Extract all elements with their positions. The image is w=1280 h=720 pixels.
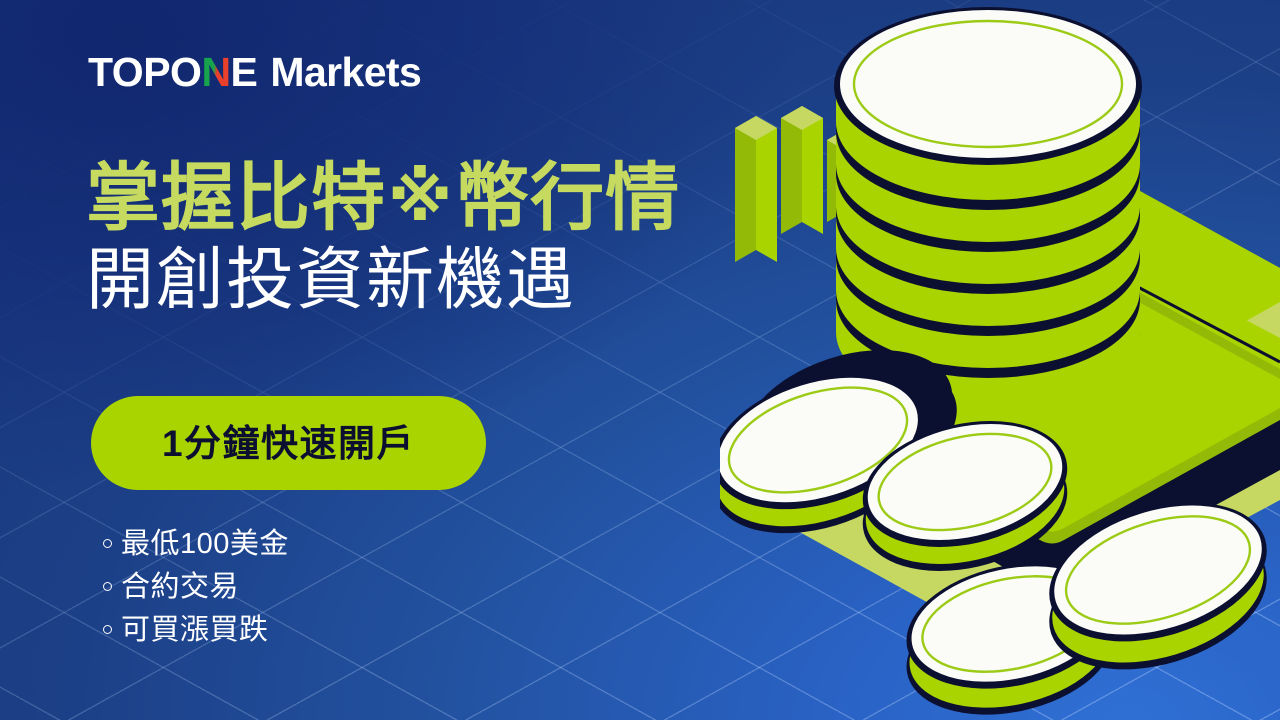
logo-text-e: E xyxy=(231,52,258,93)
reference-mark-icon: ※ xyxy=(386,163,455,232)
feature-label: 合約交易 xyxy=(121,573,239,602)
bullet-circle-icon xyxy=(103,582,112,591)
feature-label: 最低100美金 xyxy=(121,530,289,559)
feature-list: 最低100美金 合約交易 可買漲買跌 xyxy=(103,530,289,659)
bullet-circle-icon xyxy=(103,539,112,548)
list-item: 可買漲買跌 xyxy=(103,616,289,645)
headline-block: 掌握比特※幣行情 開創投資新機遇 xyxy=(86,160,806,316)
list-item: 最低100美金 xyxy=(103,530,289,559)
logo-text-markets: Markets xyxy=(270,52,421,93)
logo-text-n: N xyxy=(201,52,230,93)
list-item: 合約交易 xyxy=(103,573,289,602)
logo-text-topo: TOPO xyxy=(88,52,201,93)
promo-banner: .lime { fill: #aad400; } .lime-d { fill:… xyxy=(0,0,1280,720)
brand-logo[interactable]: TOPONE Markets xyxy=(88,52,421,93)
headline-line-1: 掌握比特※幣行情 xyxy=(86,160,806,237)
open-account-button-label: 1分鐘快速開戶 xyxy=(162,425,415,462)
feature-label: 可買漲買跌 xyxy=(121,616,269,645)
headline-line-2: 開創投資新機遇 xyxy=(86,245,806,316)
open-account-button[interactable]: 1分鐘快速開戶 xyxy=(91,396,486,490)
bullet-circle-icon xyxy=(103,625,112,634)
headline-line-1-part-a: 掌握比特 xyxy=(86,156,386,239)
headline-line-1-part-b: 幣行情 xyxy=(455,156,680,239)
